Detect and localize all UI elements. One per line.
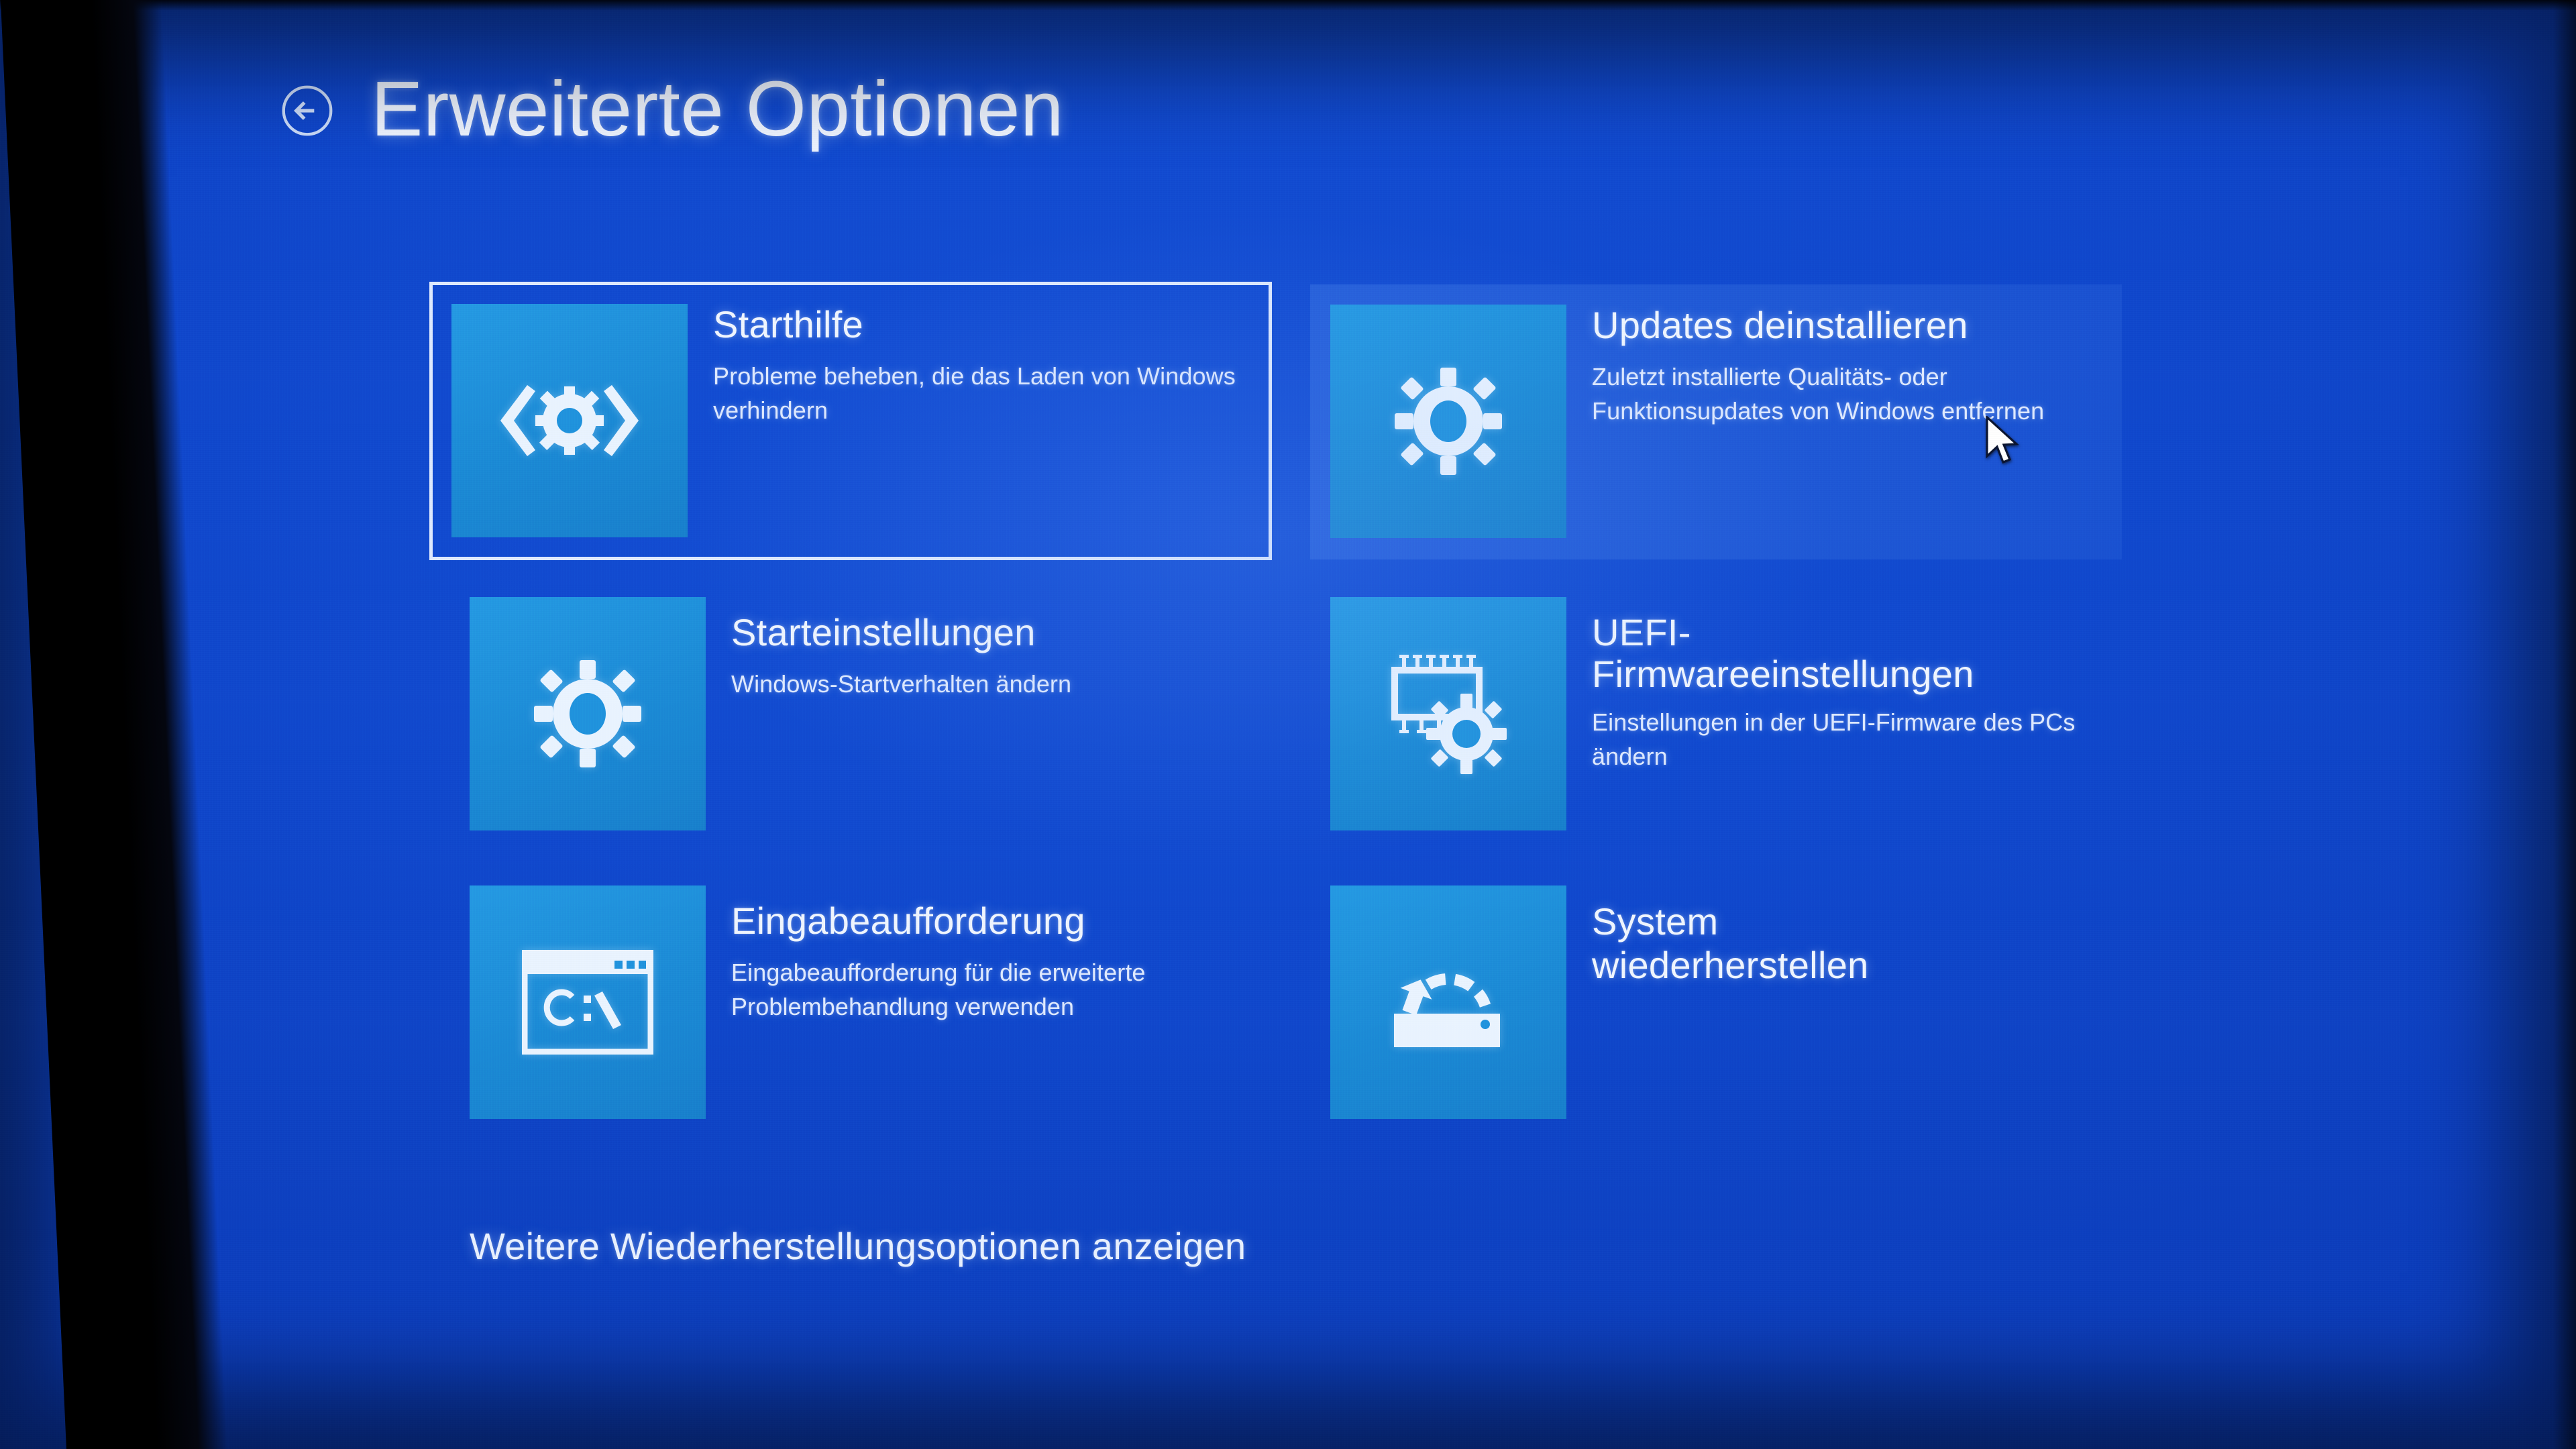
tile-text-block: Starthilfe Probleme beheben, die das Lad…	[688, 304, 1269, 427]
tile-text-block: UEFI- Firmwareeinstellungen Einstellunge…	[1566, 597, 2122, 773]
tile-text-block: Eingabeaufforderung Eingabeaufforderung …	[706, 885, 1312, 1024]
tile-description: Probleme beheben, die das Laden von Wind…	[713, 359, 1269, 427]
option-tile-eingabeaufforderung[interactable]: Eingabeaufforderung Eingabeaufforderung …	[470, 885, 1312, 1119]
uefi-chip-gear-icon	[1330, 597, 1566, 830]
tile-description: Eingabeaufforderung für die erweiterte P…	[731, 955, 1312, 1024]
startup-repair-icon	[451, 304, 688, 537]
tile-title: Updates deinstallieren	[1592, 305, 2122, 346]
page-title: Erweiterte Optionen	[371, 70, 1064, 148]
gear-icon	[1330, 305, 1566, 538]
tile-title: Starthilfe	[713, 304, 1269, 345]
option-tile-system-wiederherstellen[interactable]: System wiederherstellen	[1330, 885, 2173, 1119]
tile-title: Eingabeaufforderung	[731, 900, 1312, 942]
option-tile-starteinstellungen[interactable]: Starteinstellungen Windows-Startverhalte…	[470, 597, 1312, 830]
command-prompt-icon	[470, 885, 706, 1119]
tile-description: Einstellungen in der UEFI-Firmware des P…	[1592, 705, 2122, 773]
tile-text-block: Updates deinstallieren Zuletzt installie…	[1566, 305, 2122, 428]
mouse-pointer-icon	[1984, 416, 2026, 470]
system-restore-icon	[1330, 885, 1566, 1119]
tile-title: UEFI- Firmwareeinstellungen	[1592, 612, 2122, 694]
tile-description: Windows-Startverhalten ändern	[731, 667, 1071, 701]
option-tile-starthilfe[interactable]: Starthilfe Probleme beheben, die das Lad…	[429, 282, 1272, 560]
tile-text-block: System wiederherstellen	[1566, 885, 1869, 1001]
back-arrow-circle-icon[interactable]	[278, 82, 336, 140]
tile-title: System wiederherstellen	[1592, 900, 1869, 987]
tile-text-block: Starteinstellungen Windows-Startverhalte…	[706, 597, 1071, 701]
tile-description: Zuletzt installierte Qualitäts- oder Fun…	[1592, 360, 2122, 428]
tile-title: Starteinstellungen	[731, 612, 1071, 653]
option-tile-uefi-firmwareeinstellungen[interactable]: UEFI- Firmwareeinstellungen Einstellunge…	[1330, 597, 2173, 830]
gear-icon	[470, 597, 706, 830]
page-header: Erweiterte Optionen	[278, 74, 1064, 148]
recovery-environment-page: Erweiterte Optionen	[0, 0, 2576, 1449]
more-recovery-options-link[interactable]: Weitere Wiederherstellungsoptionen anzei…	[470, 1228, 1246, 1265]
monitor-screen: Erweiterte Optionen	[0, 0, 2576, 1449]
